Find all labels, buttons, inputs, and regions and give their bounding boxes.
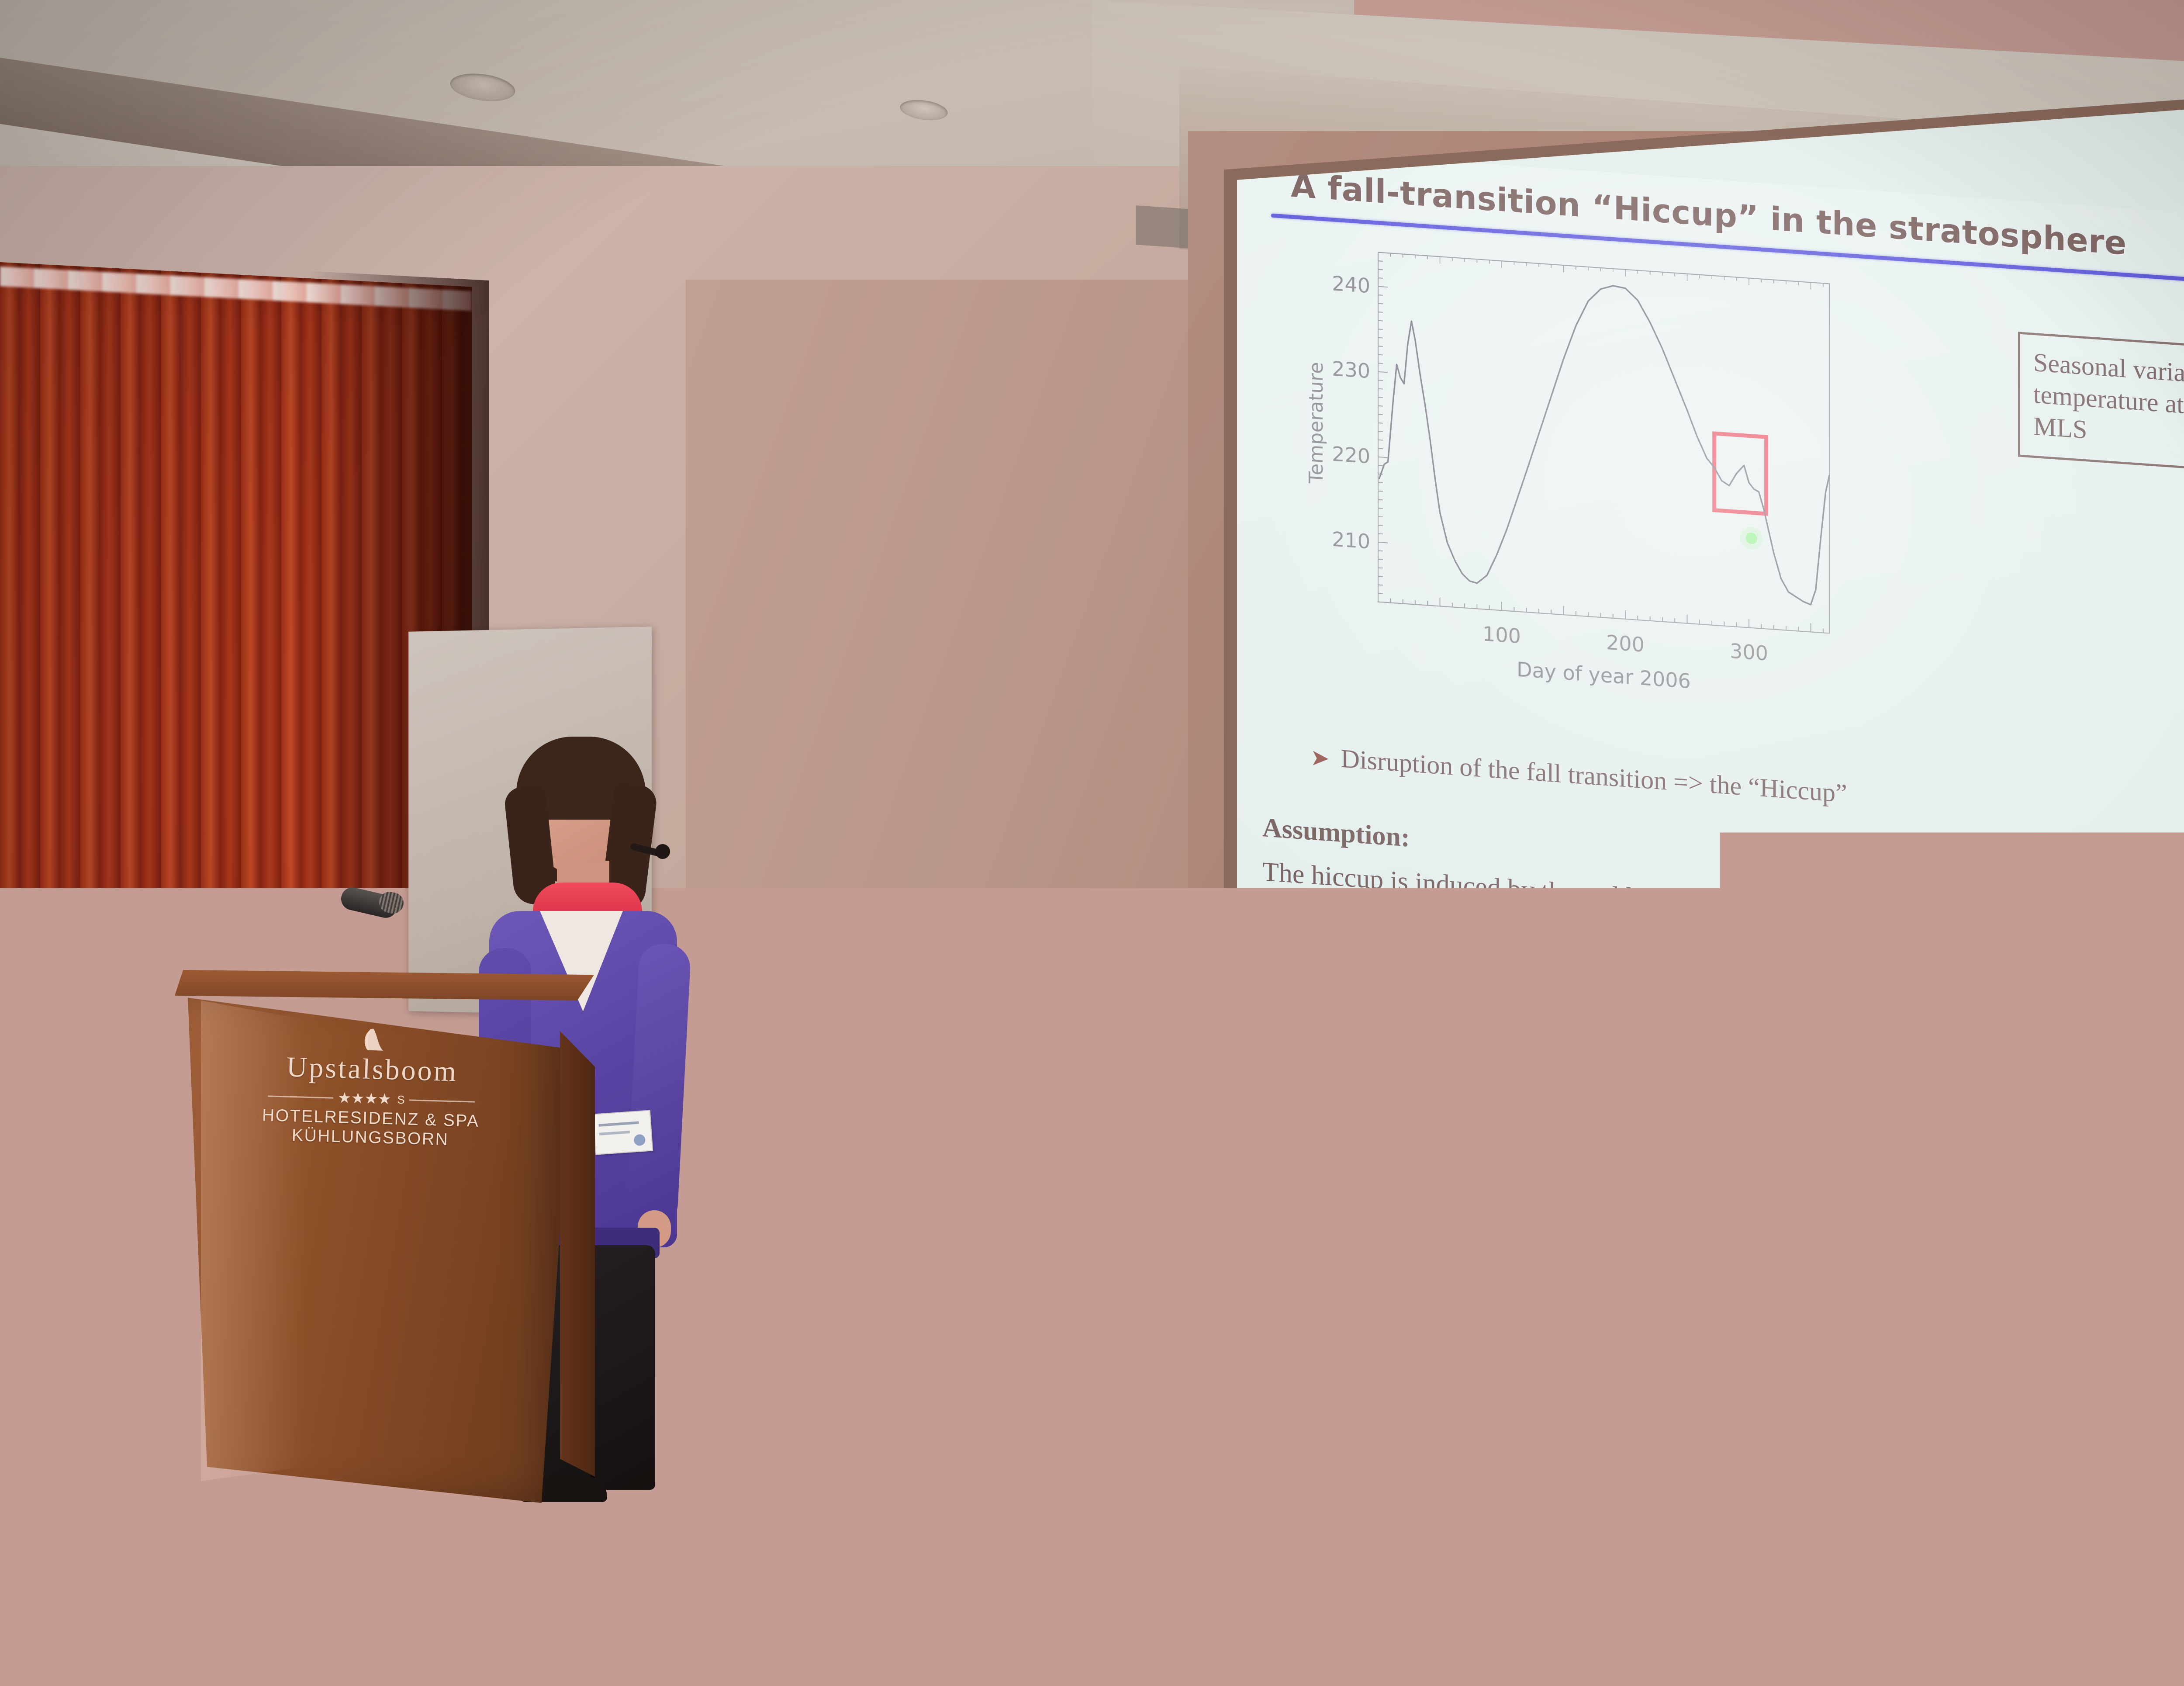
wall-recess: [686, 280, 1188, 1372]
svg-text:Temperature: Temperature: [1305, 361, 1327, 485]
podium-cast-shadow: [131, 1477, 655, 1547]
assumption-label: Assumption:: [1262, 812, 1410, 853]
svg-text:200: 200: [1606, 630, 1645, 657]
svg-text:100: 100: [1482, 622, 1521, 648]
star-rating-glyphs: ★★★★: [338, 1091, 391, 1107]
hotel-subtitle: HOTELRESIDENZ & SPA KÜHLUNGSBORN: [226, 1105, 515, 1151]
conference-room-photo: A fall-transition “Hiccup” in the strato…: [0, 0, 2184, 1686]
presentation-slide: A fall-transition “Hiccup” in the strato…: [1236, 146, 2184, 1276]
presenter-name-badge: [593, 1110, 653, 1155]
svg-text:230: 230: [1332, 357, 1370, 383]
badge-text-line: [599, 1131, 630, 1136]
badge-logo-mark: [633, 1134, 646, 1146]
chart-svg: 210220230240100200300Day of year 2006Tem…: [1302, 238, 1839, 708]
badge-text-line: [599, 1121, 639, 1126]
chart-caption-box: Seasonal variation of zonal mean tempera…: [2018, 332, 2184, 491]
svg-text:Day of year 2006: Day of year 2006: [1517, 658, 1691, 693]
rule-left: [268, 1095, 333, 1098]
headset-microphone-capsule: [655, 844, 670, 859]
bullet-text: Disruption of the fall transition => the…: [1341, 744, 1847, 809]
floor: [0, 1590, 1354, 1686]
screen-surface: A fall-transition “Hiccup” in the strato…: [1219, 74, 2184, 1363]
hotel-logo: Upstalsboom ★★★★ S HOTELRESIDENZ & SPA K…: [226, 1049, 517, 1151]
svg-text:210: 210: [1332, 527, 1370, 554]
star-suffix: S: [397, 1093, 405, 1106]
svg-text:300: 300: [1730, 639, 1768, 665]
podium-top-surface: [175, 970, 594, 1001]
temperature-line-chart: 210220230240100200300Day of year 2006Tem…: [1302, 238, 1839, 708]
svg-text:220: 220: [1332, 442, 1370, 468]
bullet-row: ➤ Disruption of the fall transition => t…: [1310, 741, 2184, 851]
rule-right: [409, 1099, 475, 1102]
podium-side-panel: [560, 1031, 595, 1477]
svg-text:240: 240: [1332, 271, 1370, 298]
sail-icon: [358, 1027, 388, 1053]
bullet-arrow-icon: ➤: [1310, 744, 1330, 772]
projection-screen: A fall-transition “Hiccup” in the strato…: [1219, 74, 2184, 1363]
